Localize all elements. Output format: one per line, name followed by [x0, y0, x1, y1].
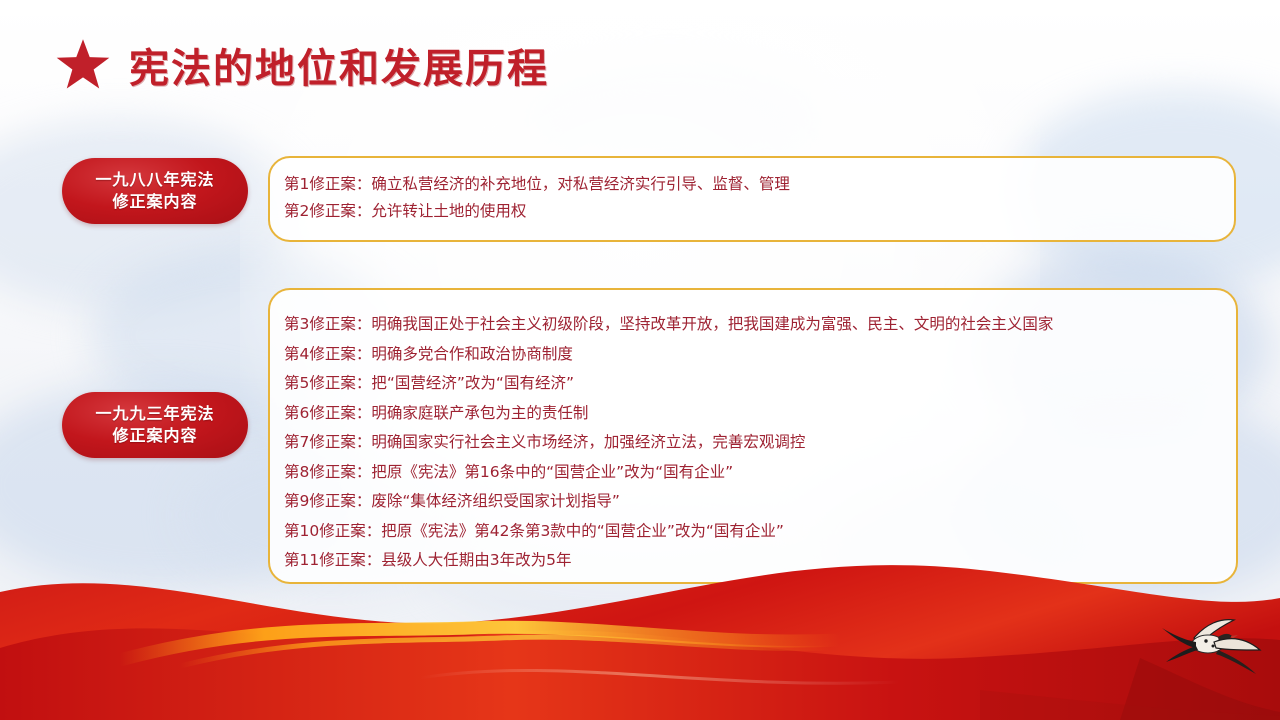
badge-line-1: 一九八八年宪法: [95, 169, 214, 191]
badge-line-1: 一九九三年宪法: [95, 403, 214, 425]
section-badge-1988: 一九八八年宪法 修正案内容: [62, 158, 248, 224]
amendment-line: 第5修正案：把“国营经济”改为“国有经济”: [284, 369, 1236, 399]
content-box-1988: 第1修正案：确立私营经济的补充地位，对私营经济实行引导、监督、管理 第2修正案：…: [268, 156, 1236, 242]
amendment-line: 第7修正案：明确国家实行社会主义市场经济，加强经济立法，完善宏观调控: [284, 428, 1236, 458]
badge-line-2: 修正案内容: [112, 191, 197, 213]
amendment-line: 第2修正案：允许转让土地的使用权: [284, 198, 1234, 225]
section-badge-1993: 一九九三年宪法 修正案内容: [62, 392, 248, 458]
slide-canvas: 宪法的地位和发展历程 一九八八年宪法 修正案内容 第1修正案：确立私营经济的补充…: [0, 0, 1280, 720]
red-star-icon: [55, 37, 111, 93]
red-flag-ribbon: [0, 540, 1280, 720]
amendment-line: 第9修正案：废除“集体经济组织受国家计划指导”: [284, 487, 1236, 517]
amendment-line: 第3修正案：明确我国正处于社会主义初级阶段，坚持改革开放，把我国建成为富强、民主…: [284, 310, 1236, 340]
amendment-line: 第4修正案：明确多党合作和政治协商制度: [284, 340, 1236, 370]
amendment-line: 第1修正案：确立私营经济的补充地位，对私营经济实行引导、监督、管理: [284, 171, 1234, 198]
slide-header: 宪法的地位和发展历程: [55, 36, 549, 94]
amendment-line: 第6修正案：明确家庭联产承包为主的责任制: [284, 399, 1236, 429]
swallow-icon: [1148, 608, 1270, 676]
amendment-line: 第8修正案：把原《宪法》第16条中的“国营企业”改为“国有企业”: [284, 458, 1236, 488]
badge-line-2: 修正案内容: [112, 425, 197, 447]
page-title: 宪法的地位和发展历程: [129, 36, 549, 94]
